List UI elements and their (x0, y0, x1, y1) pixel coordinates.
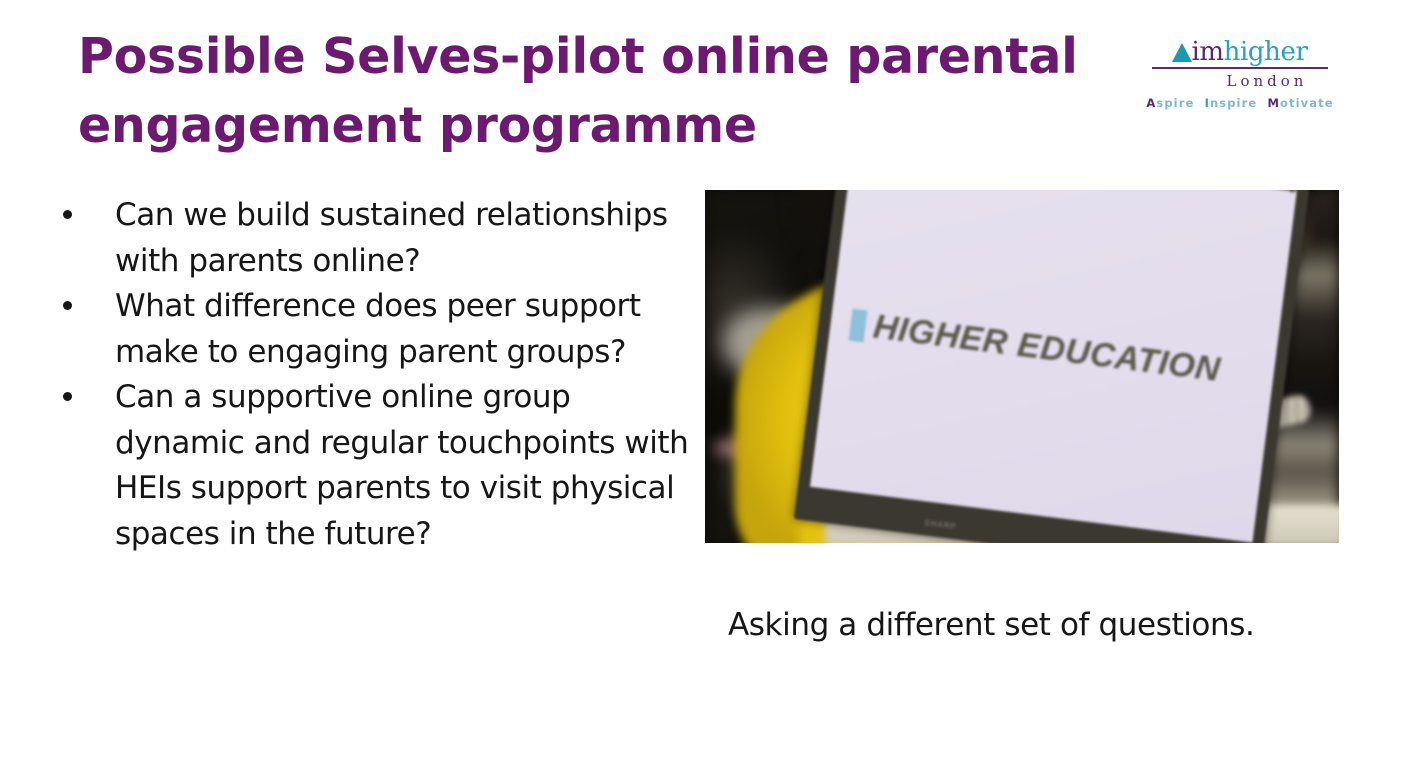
screen-headline-text: HIGHER EDUCATION (871, 308, 1222, 390)
tagline-1-cap: A (1146, 96, 1156, 110)
bullet-list: Can we build sustained relationships wit… (52, 193, 692, 557)
tagline-3-cap: M (1267, 96, 1280, 110)
slide-photo: Croydon University Centre HIGHER EDUCATI… (705, 190, 1339, 543)
screen-headline-row: HIGHER EDUCATION (848, 305, 1222, 390)
screen-accent-bar-icon (849, 308, 868, 342)
tagline-1-rest: spire (1156, 96, 1194, 110)
list-item-text: Can a supportive online group dynamic an… (115, 379, 688, 552)
logo-divider (1152, 67, 1328, 69)
bullet-dot-icon (63, 301, 72, 310)
logo-word-im: im (1191, 37, 1223, 67)
bullet-dot-icon (63, 392, 72, 401)
list-item-text: Can we build sustained relationships wit… (115, 197, 668, 279)
bullet-dot-icon (63, 210, 72, 219)
tagline-2-rest: nspire (1210, 96, 1257, 110)
list-item: Can we build sustained relationships wit… (52, 193, 692, 284)
list-item-text: What difference does peer support make t… (115, 288, 641, 370)
logo-subtitle: London (1140, 72, 1340, 90)
aimhigher-london-logo: imhigher London Aspire Inspire Motivate (1140, 38, 1340, 116)
list-item: What difference does peer support make t… (52, 284, 692, 375)
triangle-a-icon (1172, 43, 1192, 62)
logo-word-higher: higher (1224, 37, 1308, 67)
monitor-screen: Croydon University Centre HIGHER EDUCATI… (810, 190, 1297, 543)
photo-monitor: Croydon University Centre HIGHER EDUCATI… (794, 190, 1310, 543)
page-title: Possible Selves-pilot online parental en… (78, 22, 1108, 160)
photo-caption: Asking a different set of questions. (728, 602, 1288, 649)
logo-tagline: Aspire Inspire Motivate (1140, 96, 1340, 110)
tagline-3-rest: otivate (1280, 96, 1334, 110)
list-item: Can a supportive online group dynamic an… (52, 375, 692, 557)
logo-wordmark: imhigher (1140, 38, 1340, 66)
